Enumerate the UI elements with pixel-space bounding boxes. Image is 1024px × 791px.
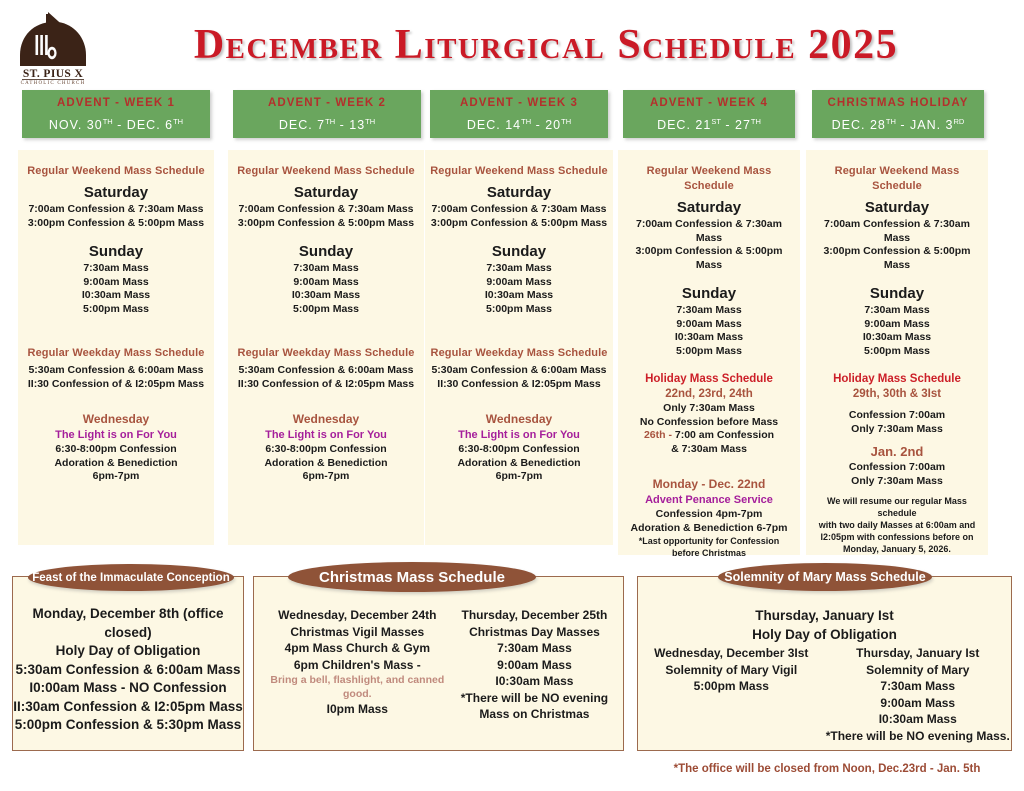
blue-line: Monday, December 8th (office closed) xyxy=(13,605,243,642)
schedule-column-advent-week-4: Regular Weekend Mass Schedule Saturday 7… xyxy=(618,150,800,555)
sunday-line: 7:30am Mass xyxy=(22,262,210,276)
day-line: 7:30am Mass xyxy=(453,640,615,657)
st-pius-x-logo: ST. PIUS X CATHOLIC CHURCH xyxy=(12,8,94,84)
column-header-dates: DEC. 28TH - JAN. 3RD xyxy=(812,112,984,135)
vigil-line: 5:00pm Mass xyxy=(638,678,825,695)
day-heading: Thursday, December 25th xyxy=(453,607,615,624)
day-line: 7:30am Mass xyxy=(825,678,1012,695)
schedule-column-advent-week-3: Regular Weekend Mass Schedule Saturday 7… xyxy=(425,150,613,545)
saturday-line: 7:00am Confession & 7:30am Mass xyxy=(810,218,984,245)
christmas-day-group: Thursday, December 25th Christmas Day Ma… xyxy=(453,607,615,723)
holiday-schedule-heading: Holiday Mass Schedule xyxy=(810,372,984,387)
day-line: 9:00am Mass xyxy=(453,657,615,674)
vigil-line: 6pm Children's Mass - xyxy=(261,657,453,674)
church-silhouette-icon: ST. PIUS X CATHOLIC CHURCH xyxy=(12,8,94,84)
column-header-title: ADVENT - WEEK 4 xyxy=(623,95,795,112)
logo-name-text: ST. PIUS X xyxy=(23,68,84,80)
sunday-line: 7:30am Mass xyxy=(429,262,609,276)
saturday-line: 7:00am Confession & 7:30am Mass xyxy=(232,203,420,217)
weekend-schedule-heading: Regular Weekend Mass Schedule xyxy=(232,164,420,179)
mass-line: 5:00pm Confession & 5:30pm Mass xyxy=(13,716,243,735)
penance-line: Adoration & Benediction 6-7pm xyxy=(622,522,796,536)
liturgical-schedule-page: ST. PIUS X CATHOLIC CHURCH December Litu… xyxy=(0,0,1024,791)
spacer xyxy=(22,316,210,340)
saturday-line: 3:00pm Confession & 5:00pm Mass xyxy=(429,217,609,231)
day-line: I0:30am Mass xyxy=(453,673,615,690)
spacer xyxy=(232,391,420,405)
column-header-title: ADVENT - WEEK 2 xyxy=(233,95,421,112)
saturday-line: 7:00am Confession & 7:30am Mass xyxy=(622,218,796,245)
spacer xyxy=(22,391,210,405)
sunday-label: Sunday xyxy=(22,242,210,262)
saturday-line: 3:00pm Confession & 5:00pm Mass xyxy=(22,217,210,231)
spacer xyxy=(429,316,609,340)
solemnity-day-group: Thursday, January Ist Solemnity of Mary … xyxy=(825,645,1012,744)
vigil-line: 4pm Mass Church & Gym xyxy=(261,640,453,657)
panel-title-immaculate-conception: Feast of the Immaculate Conception xyxy=(28,564,234,591)
sunday-line: 9:00am Mass xyxy=(232,276,420,290)
holiday-dates: 29th, 30th & 3Ist xyxy=(810,387,984,402)
panel-solemnity-of-mary: Thursday, January Ist Holy Day of Obliga… xyxy=(637,576,1012,751)
weekend-schedule-heading: Regular Weekend Mass Schedule xyxy=(429,164,609,179)
saturday-line: 3:00pm Confession & 5:00pm Mass xyxy=(232,217,420,231)
resume-note-line: I2:05pm with confessions before on xyxy=(810,531,984,543)
logo-subtitle-text: CATHOLIC CHURCH xyxy=(21,81,86,84)
vigil-heading: Wednesday, December 3Ist xyxy=(638,645,825,662)
weekday-schedule-heading: Regular Weekday Mass Schedule xyxy=(429,346,609,361)
schedule-column-advent-week-2: Regular Weekend Mass Schedule Saturday 7… xyxy=(228,150,424,545)
day-heading: Solemnity of Mary xyxy=(825,662,1012,679)
panel-heading-group: Thursday, January Ist Holy Day of Obliga… xyxy=(638,607,1011,644)
saturday-line: 7:00am Confession & 7:30am Mass xyxy=(429,203,609,217)
column-header-title: ADVENT - WEEK 1 xyxy=(22,95,210,112)
christmas-vigil-group: Wednesday, December 24th Christmas Vigil… xyxy=(261,607,453,723)
saturday-label: Saturday xyxy=(232,183,420,203)
sunday-line: I0:30am Mass xyxy=(429,289,609,303)
resume-note-line: Monday, January 5, 2026. xyxy=(810,543,984,555)
weekday-line: 5:30am Confession & 6:00am Mass xyxy=(429,364,609,378)
holiday-26-rest: 7:00 am Confession xyxy=(675,429,774,441)
weekday-schedule-heading: Regular Weekday Mass Schedule xyxy=(22,346,210,361)
day-heading: Thursday, January Ist xyxy=(825,645,1012,662)
holiday-line: & 7:30am Mass xyxy=(622,443,796,457)
column-header-advent-week-1: ADVENT - WEEK 1 NOV. 30TH - DEC. 6TH xyxy=(22,90,210,138)
wednesday-line: Adoration & Benediction xyxy=(232,457,420,471)
day-heading: Christmas Day Masses xyxy=(453,624,615,641)
saturday-line: 3:00pm Confession & 5:00pm Mass xyxy=(622,245,796,272)
sunday-line: 5:00pm Mass xyxy=(232,303,420,317)
wednesday-line: Adoration & Benediction xyxy=(22,457,210,471)
sunday-label: Sunday xyxy=(232,242,420,262)
office-closed-footnote: *The office will be closed from Noon, De… xyxy=(630,762,1024,777)
saturday-label: Saturday xyxy=(622,198,796,218)
holiday-26-prefix: 26th - xyxy=(644,429,675,441)
panel-body: Monday, December 8th (office closed) Hol… xyxy=(13,605,243,735)
holiday-line: No Confession before Mass xyxy=(622,416,796,430)
sunday-label: Sunday xyxy=(810,284,984,304)
sunday-line: 5:00pm Mass xyxy=(22,303,210,317)
column-header-dates: DEC. 21ST - 27TH xyxy=(623,112,795,135)
holiday-dates: 22nd, 23rd, 24th xyxy=(622,387,796,402)
column-header-christmas-holiday: CHRISTMAS HOLIDAY DEC. 28TH - JAN. 3RD xyxy=(812,90,984,138)
column-header-dates: DEC. 14TH - 20TH xyxy=(430,112,608,135)
sunday-line: I0:30am Mass xyxy=(622,331,796,345)
schedule-column-christmas-holiday: Regular Weekend Mass Schedule Saturday 7… xyxy=(806,150,988,555)
wednesday-line: 6:30-8:00pm Confession xyxy=(429,443,609,457)
weekday-line: 5:30am Confession & 6:00am Mass xyxy=(22,364,210,378)
column-header-title: CHRISTMAS HOLIDAY xyxy=(812,95,984,112)
penance-note: *Last opportunity for Confession xyxy=(622,535,796,547)
vigil-line: I0pm Mass xyxy=(261,701,453,718)
light-is-on-highlight: The Light is on For You xyxy=(429,428,609,443)
masthead: ST. PIUS X CATHOLIC CHURCH December Litu… xyxy=(0,0,1024,88)
mass-line: 5:30am Confession & 6:00am Mass xyxy=(13,661,243,680)
wednesday-line: 6pm-7pm xyxy=(429,470,609,484)
wednesday-line: 6:30-8:00pm Confession xyxy=(232,443,420,457)
column-header-advent-week-3: ADVENT - WEEK 3 DEC. 14TH - 20TH xyxy=(430,90,608,138)
weekday-line: II:30 Confession of & I2:05pm Mass xyxy=(22,378,210,392)
sunday-line: I0:30am Mass xyxy=(22,289,210,303)
spacer xyxy=(429,391,609,405)
panel-christmas-mass-schedule: Wednesday, December 24th Christmas Vigil… xyxy=(253,576,624,751)
saturday-line: 3:00pm Confession & 5:00pm Mass xyxy=(810,245,984,272)
wednesday-label: Wednesday xyxy=(232,411,420,428)
column-header-dates: DEC. 7TH - 13TH xyxy=(233,112,421,135)
holiday-line: Only 7:30am Mass xyxy=(810,423,984,437)
panel-immaculate-conception: Monday, December 8th (office closed) Hol… xyxy=(12,576,244,751)
sunday-label: Sunday xyxy=(622,284,796,304)
advent-penance-service-title: Advent Penance Service xyxy=(622,493,796,508)
sunday-line: 9:00am Mass xyxy=(622,318,796,332)
resume-note-line: with two daily Masses at 6:00am and xyxy=(810,519,984,531)
day-line: I0:30am Mass xyxy=(825,711,1012,728)
page-title: December Liturgical Schedule 2025 xyxy=(96,22,996,68)
wednesday-line: 6pm-7pm xyxy=(22,470,210,484)
weekend-schedule-heading: Regular Weekend Mass Schedule xyxy=(22,164,210,179)
panel-title-solemnity-of-mary: Solemnity of Mary Mass Schedule xyxy=(718,563,932,591)
holiday-line-26th: 26th - 7:00 am Confession xyxy=(622,429,796,443)
sunday-line: 5:00pm Mass xyxy=(622,345,796,359)
sunday-line: 7:30am Mass xyxy=(622,304,796,318)
holiday-schedule-heading: Holiday Mass Schedule xyxy=(622,372,796,387)
penance-date: Monday - Dec. 22nd xyxy=(622,476,796,493)
day-line: 9:00am Mass xyxy=(825,695,1012,712)
penance-line: Confession 4pm-7pm xyxy=(622,508,796,522)
spacer xyxy=(622,456,796,470)
sunday-line: 7:30am Mass xyxy=(232,262,420,276)
bring-items-note: Bring a bell, flashlight, and canned goo… xyxy=(261,673,453,701)
blue-heading: Holy Day of Obligation xyxy=(638,626,1011,645)
light-is-on-highlight: The Light is on For You xyxy=(232,428,420,443)
jan-2nd-label: Jan. 2nd xyxy=(810,443,984,461)
jan2-line: Only 7:30am Mass xyxy=(810,475,984,489)
weekday-schedule-heading: Regular Weekday Mass Schedule xyxy=(232,346,420,361)
panel-body: Wednesday, December 3Ist Solemnity of Ma… xyxy=(638,645,1011,744)
sunday-line: 7:30am Mass xyxy=(810,304,984,318)
vigil-heading: Christmas Vigil Masses xyxy=(261,624,453,641)
weekend-schedule-heading: Regular Weekend Mass Schedule xyxy=(810,164,984,194)
holiday-line: Only 7:30am Mass xyxy=(622,402,796,416)
spacer xyxy=(810,436,984,443)
sunday-label: Sunday xyxy=(429,242,609,262)
sunday-line: I0:30am Mass xyxy=(810,331,984,345)
weekend-schedule-heading: Regular Weekend Mass Schedule xyxy=(622,164,796,194)
spacer xyxy=(232,316,420,340)
column-header-advent-week-2: ADVENT - WEEK 2 DEC. 7TH - 13TH xyxy=(233,90,421,138)
solemnity-vigil-group: Wednesday, December 3Ist Solemnity of Ma… xyxy=(638,645,825,744)
saturday-label: Saturday xyxy=(22,183,210,203)
wednesday-label: Wednesday xyxy=(429,411,609,428)
weekday-line: 5:30am Confession & 6:00am Mass xyxy=(232,364,420,378)
column-header-dates: NOV. 30TH - DEC. 6TH xyxy=(22,112,210,135)
wednesday-line: 6:30-8:00pm Confession xyxy=(22,443,210,457)
holiday-line: Confession 7:00am xyxy=(810,409,984,423)
blue-heading: Thursday, January Ist xyxy=(638,607,1011,626)
spacer xyxy=(810,358,984,372)
saturday-label: Saturday xyxy=(810,198,984,218)
day-line: *There will be NO evening xyxy=(453,690,615,707)
sunday-line: 9:00am Mass xyxy=(810,318,984,332)
saturday-line: 7:00am Confession & 7:30am Mass xyxy=(22,203,210,217)
blue-line: Holy Day of Obligation xyxy=(13,642,243,661)
sunday-line: 9:00am Mass xyxy=(429,276,609,290)
mass-line: I0:00am Mass - NO Confession xyxy=(13,679,243,698)
sunday-line: 9:00am Mass xyxy=(22,276,210,290)
weekday-line: II:30 Confession of & I2:05pm Mass xyxy=(232,378,420,392)
light-is-on-highlight: The Light is on For You xyxy=(22,428,210,443)
wednesday-line: Adoration & Benediction xyxy=(429,457,609,471)
column-header-title: ADVENT - WEEK 3 xyxy=(430,95,608,112)
saturday-label: Saturday xyxy=(429,183,609,203)
vigil-heading: Wednesday, December 24th xyxy=(261,607,453,624)
sunday-line: 5:00pm Mass xyxy=(429,303,609,317)
sunday-line: 5:00pm Mass xyxy=(810,345,984,359)
spacer xyxy=(622,358,796,372)
wednesday-label: Wednesday xyxy=(22,411,210,428)
column-header-advent-week-4: ADVENT - WEEK 4 DEC. 21ST - 27TH xyxy=(623,90,795,138)
sunday-line: I0:30am Mass xyxy=(232,289,420,303)
schedule-column-advent-week-1: Regular Weekend Mass Schedule Saturday 7… xyxy=(18,150,214,545)
resume-note-line: We will resume our regular Mass schedule xyxy=(810,495,984,519)
mass-line: II:30am Confession & I2:05pm Mass xyxy=(13,698,243,717)
wednesday-line: 6pm-7pm xyxy=(232,470,420,484)
penance-note: before Christmas xyxy=(622,547,796,559)
vigil-heading: Solemnity of Mary Vigil xyxy=(638,662,825,679)
panel-body: Wednesday, December 24th Christmas Vigil… xyxy=(254,607,623,723)
weekday-line: II:30 Confession & I2:05pm Mass xyxy=(429,378,609,392)
jan2-line: Confession 7:00am xyxy=(810,461,984,475)
day-line: Mass on Christmas xyxy=(453,706,615,723)
spacer xyxy=(810,488,984,495)
day-line: *There will be NO evening Mass. xyxy=(825,728,1012,745)
spacer xyxy=(810,402,984,409)
panel-title-christmas-mass-schedule: Christmas Mass Schedule xyxy=(288,562,536,592)
